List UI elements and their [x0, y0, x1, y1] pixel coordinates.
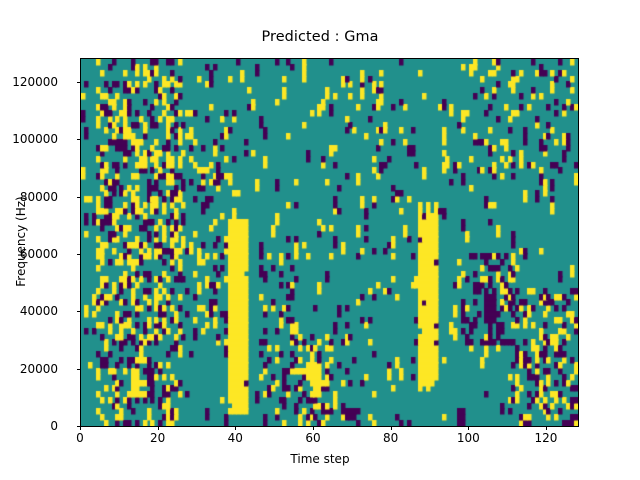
- y-tick-label: 120000: [12, 75, 58, 89]
- heatmap-canvas: [81, 59, 578, 426]
- matplotlib-figure: Predicted : Gma Frequency (Hz) Time step…: [0, 0, 640, 480]
- x-tick-mark: [80, 426, 81, 430]
- y-tick-label: 100000: [12, 132, 58, 146]
- y-tick-mark: [77, 139, 81, 140]
- x-tick-mark: [313, 426, 314, 430]
- y-tick-mark: [77, 254, 81, 255]
- x-axis-label: Time step: [0, 452, 640, 466]
- x-tick-label: 60: [305, 431, 320, 445]
- x-tick-label: 100: [457, 431, 480, 445]
- heatmap-axes: [80, 58, 579, 427]
- chart-title: Predicted : Gma: [0, 29, 640, 45]
- x-tick-mark: [546, 426, 547, 430]
- y-tick-label: 60000: [20, 247, 58, 261]
- y-tick-mark: [77, 197, 81, 198]
- x-tick-label: 120: [534, 431, 557, 445]
- x-tick-label: 40: [228, 431, 243, 445]
- y-tick-label: 0: [50, 419, 58, 433]
- x-tick-label: 0: [76, 431, 84, 445]
- y-tick-mark: [77, 82, 81, 83]
- x-tick-mark: [468, 426, 469, 430]
- y-tick-label: 40000: [20, 304, 58, 318]
- x-tick-label: 20: [150, 431, 165, 445]
- x-tick-label: 80: [383, 431, 398, 445]
- y-tick-mark: [77, 311, 81, 312]
- x-tick-mark: [391, 426, 392, 430]
- y-tick-mark: [77, 369, 81, 370]
- x-tick-mark: [235, 426, 236, 430]
- y-tick-label: 20000: [20, 362, 58, 376]
- y-tick-label: 80000: [20, 190, 58, 204]
- x-tick-mark: [158, 426, 159, 430]
